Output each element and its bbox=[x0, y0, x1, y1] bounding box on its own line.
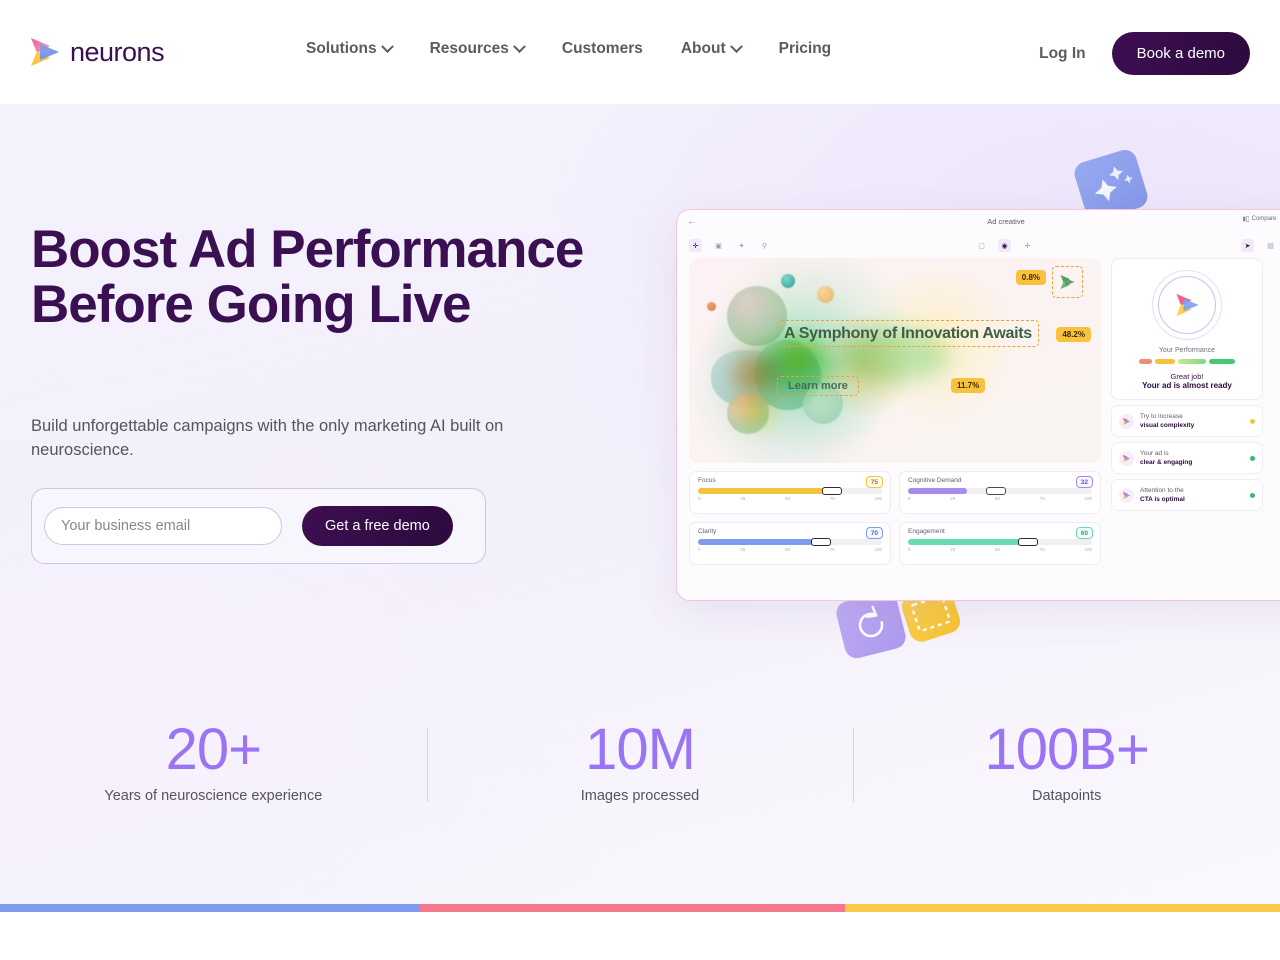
attention-badge-headline: 48.2% bbox=[1056, 327, 1091, 342]
sparkle-icon[interactable]: ✦ bbox=[735, 239, 748, 252]
product-screenshot-panel: ← Ad creative Compare Download ✛ ▣ ✦ ⚲ bbox=[676, 209, 1280, 601]
nav-item-solutions[interactable]: Solutions bbox=[306, 40, 392, 58]
nav-item-label: Resources bbox=[430, 40, 509, 58]
gauge-segment bbox=[1209, 359, 1235, 364]
metric-fill bbox=[908, 488, 967, 494]
stat-label: Years of neuroscience experience bbox=[0, 788, 427, 804]
brand-logo-icon bbox=[1119, 488, 1134, 503]
rec-line1: Your ad is bbox=[1140, 450, 1169, 457]
rec-line2: visual complexity bbox=[1140, 422, 1194, 429]
chevron-down-icon bbox=[730, 40, 743, 53]
nav-item-label: Solutions bbox=[306, 40, 377, 58]
rec-line1: Try to increase bbox=[1140, 413, 1183, 420]
compare-icon bbox=[1243, 216, 1249, 222]
stat-number: 10M bbox=[427, 716, 854, 784]
metric-thumb[interactable] bbox=[811, 538, 831, 546]
metric-value: 32 bbox=[1076, 476, 1093, 488]
crop-icon[interactable]: ▣ bbox=[712, 239, 725, 252]
nav-item-customers[interactable]: Customers bbox=[562, 40, 643, 58]
login-link[interactable]: Log In bbox=[1039, 45, 1086, 63]
heatmap-icon[interactable]: ◉ bbox=[998, 239, 1011, 252]
metric-value: 60 bbox=[1076, 527, 1093, 539]
performance-card: Your Performance Great job! Your ad is a… bbox=[1111, 258, 1263, 400]
app-main-column: A Symphony of Innovation Awaits Learn mo… bbox=[689, 258, 1101, 565]
brand-logo-icon bbox=[1119, 451, 1134, 466]
toolbar-left-group: ✛ ▣ ✦ ⚲ bbox=[689, 239, 771, 252]
metric-card-cognitive-demand[interactable]: Cognitive Demand 32 0255075100 bbox=[899, 471, 1101, 514]
performance-segments bbox=[1120, 359, 1254, 364]
metric-ticks: 0255075100 bbox=[908, 547, 1092, 552]
bar-segment-pink bbox=[420, 904, 845, 912]
stat-number: 100B+ bbox=[853, 716, 1280, 784]
creative-logo-region bbox=[1052, 266, 1083, 298]
recommendation-card-clear-engaging[interactable]: Your ad is clear & engaging bbox=[1111, 442, 1263, 474]
metric-label: Cognitive Demand bbox=[908, 477, 1092, 484]
recommendation-card-cta-optimal[interactable]: Attention to the CTA is optimal bbox=[1111, 479, 1263, 511]
toolbar-right-group: ➤ ▤ bbox=[1241, 239, 1277, 252]
layers-icon[interactable]: ▤ bbox=[1264, 239, 1277, 252]
recommendation-card-visual-complexity[interactable]: Try to increase visual complexity bbox=[1111, 405, 1263, 437]
book-a-demo-button[interactable]: Book a demo bbox=[1112, 32, 1250, 75]
brand-name: neurons bbox=[70, 37, 164, 68]
chevron-down-icon bbox=[513, 40, 526, 53]
recommendation-text: Your ad is clear & engaging bbox=[1140, 449, 1244, 467]
business-email-input[interactable] bbox=[44, 507, 282, 545]
decorative-blob bbox=[781, 274, 795, 288]
stat-years: 20+ Years of neuroscience experience bbox=[0, 716, 427, 804]
metric-ticks: 0255075100 bbox=[698, 496, 882, 501]
brand-logo-icon bbox=[1119, 414, 1134, 429]
nav-actions: Log In Book a demo bbox=[1039, 32, 1250, 75]
creative-headline: A Symphony of Innovation Awaits bbox=[777, 320, 1039, 347]
chevron-down-icon bbox=[381, 40, 394, 53]
decorative-blob bbox=[707, 302, 716, 311]
stat-images: 10M Images processed bbox=[427, 716, 854, 804]
app-side-column: Your Performance Great job! Your ad is a… bbox=[1111, 258, 1263, 565]
stat-datapoints: 100B+ Datapoints bbox=[853, 716, 1280, 804]
compare-action[interactable]: Compare bbox=[1243, 216, 1277, 222]
heatmap-blob bbox=[733, 354, 777, 394]
ad-creative-preview[interactable]: A Symphony of Innovation Awaits Learn mo… bbox=[689, 258, 1101, 463]
rec-line2: CTA is optimal bbox=[1140, 496, 1185, 503]
metric-ticks: 0255075100 bbox=[908, 496, 1092, 501]
creative-cta-button[interactable]: Learn more bbox=[777, 376, 859, 396]
attention-badge-logo: 0.8% bbox=[1016, 270, 1046, 285]
plus-icon[interactable]: ✛ bbox=[1021, 239, 1034, 252]
gauge-segment bbox=[1139, 359, 1152, 364]
nav-links: Solutions Resources Customers About Pric… bbox=[306, 40, 831, 58]
bar-segment-blue bbox=[0, 904, 420, 912]
rec-line1: Attention to the bbox=[1140, 487, 1184, 494]
brand-logo-icon bbox=[1059, 274, 1076, 290]
bottom-color-bar bbox=[0, 904, 1280, 912]
recommendation-text: Attention to the CTA is optimal bbox=[1140, 486, 1244, 504]
brand-logo[interactable]: neurons bbox=[28, 36, 164, 68]
cursor-select-icon[interactable]: ✛ bbox=[689, 239, 702, 252]
metric-thumb[interactable] bbox=[822, 487, 842, 495]
stats-row: 20+ Years of neuroscience experience 10M… bbox=[0, 716, 1280, 804]
metric-fill bbox=[698, 488, 832, 494]
metric-ticks: 0255075100 bbox=[698, 547, 882, 552]
app-title: Ad creative bbox=[677, 217, 1280, 226]
compare-label: Compare bbox=[1252, 216, 1277, 222]
app-toolbar: ✛ ▣ ✦ ⚲ ▢ ◉ ✛ ➤ ▤ bbox=[677, 236, 1280, 258]
gauge-core bbox=[1168, 286, 1206, 324]
metric-fill bbox=[698, 539, 821, 545]
nav-item-label: Pricing bbox=[779, 40, 832, 58]
top-navigation-bar: neurons Solutions Resources Customers Ab… bbox=[0, 0, 1280, 104]
app-body: A Symphony of Innovation Awaits Learn mo… bbox=[677, 258, 1280, 565]
recommendation-text: Try to increase visual complexity bbox=[1140, 412, 1244, 430]
metric-value: 75 bbox=[866, 476, 883, 488]
decorative-blob bbox=[817, 286, 834, 303]
status-dot bbox=[1250, 419, 1255, 424]
performance-title: Your Performance bbox=[1120, 347, 1254, 354]
page-title: Boost Ad Performance Before Going Live bbox=[31, 222, 591, 332]
toolbar-center-group: ▢ ◉ ✛ bbox=[975, 239, 1034, 252]
metric-value: 70 bbox=[866, 527, 883, 539]
metric-cards: Focus 75 0255075100 Cognitive Demand 32 bbox=[689, 471, 1101, 565]
stat-number: 20+ bbox=[0, 716, 427, 784]
stat-label: Datapoints bbox=[853, 788, 1280, 804]
performance-message-line2: Your ad is almost ready bbox=[1120, 381, 1254, 390]
metric-label: Clarity bbox=[698, 528, 882, 535]
rec-line2: clear & engaging bbox=[1140, 459, 1192, 466]
play-triangle-gradient-icon bbox=[28, 36, 62, 68]
nav-item-label: About bbox=[681, 40, 726, 58]
metric-track[interactable] bbox=[698, 539, 882, 545]
status-dot bbox=[1250, 456, 1255, 461]
get-free-demo-button[interactable]: Get a free demo bbox=[302, 506, 453, 546]
metric-label: Focus bbox=[698, 477, 882, 484]
metric-track[interactable] bbox=[698, 488, 882, 494]
metric-fill bbox=[908, 539, 1022, 545]
heatmap-blob bbox=[781, 344, 815, 374]
stat-label: Images processed bbox=[427, 788, 854, 804]
performance-message-line1: Great job! bbox=[1120, 372, 1254, 381]
pin-icon[interactable]: ⚲ bbox=[758, 239, 771, 252]
status-dot bbox=[1250, 493, 1255, 498]
cursor-icon[interactable]: ➤ bbox=[1241, 239, 1254, 252]
nav-item-resources[interactable]: Resources bbox=[430, 40, 524, 58]
landing-page: neurons Solutions Resources Customers Ab… bbox=[0, 0, 1280, 960]
metric-track[interactable] bbox=[908, 539, 1092, 545]
metric-thumb[interactable] bbox=[986, 487, 1006, 495]
app-title-actions: Compare Download bbox=[1243, 216, 1280, 222]
metric-card-clarity[interactable]: Clarity 70 0255075100 bbox=[689, 522, 891, 565]
metric-card-engagement[interactable]: Engagement 60 0255075100 bbox=[899, 522, 1101, 565]
metric-thumb[interactable] bbox=[1018, 538, 1038, 546]
metric-label: Engagement bbox=[908, 528, 1092, 535]
footer-area bbox=[0, 912, 1280, 960]
app-titlebar: ← Ad creative Compare Download bbox=[677, 210, 1280, 236]
metric-track[interactable] bbox=[908, 488, 1092, 494]
heatmap-blob bbox=[741, 400, 771, 426]
hero-subtitle: Build unforgettable campaigns with the o… bbox=[31, 414, 531, 462]
email-signup-form: Get a free demo bbox=[31, 488, 486, 564]
nav-item-label: Customers bbox=[562, 40, 643, 58]
brand-logo-icon bbox=[1174, 292, 1201, 318]
attention-badge-cta: 11.7% bbox=[951, 378, 985, 393]
nav-item-pricing[interactable]: Pricing bbox=[779, 40, 832, 58]
gauge-segment bbox=[1178, 359, 1206, 364]
performance-gauge bbox=[1152, 270, 1222, 340]
gauge-segment bbox=[1155, 359, 1175, 364]
image-icon[interactable]: ▢ bbox=[975, 239, 988, 252]
nav-item-about[interactable]: About bbox=[681, 40, 741, 58]
metric-card-focus[interactable]: Focus 75 0255075100 bbox=[689, 471, 891, 514]
bar-segment-yellow bbox=[845, 904, 1280, 912]
